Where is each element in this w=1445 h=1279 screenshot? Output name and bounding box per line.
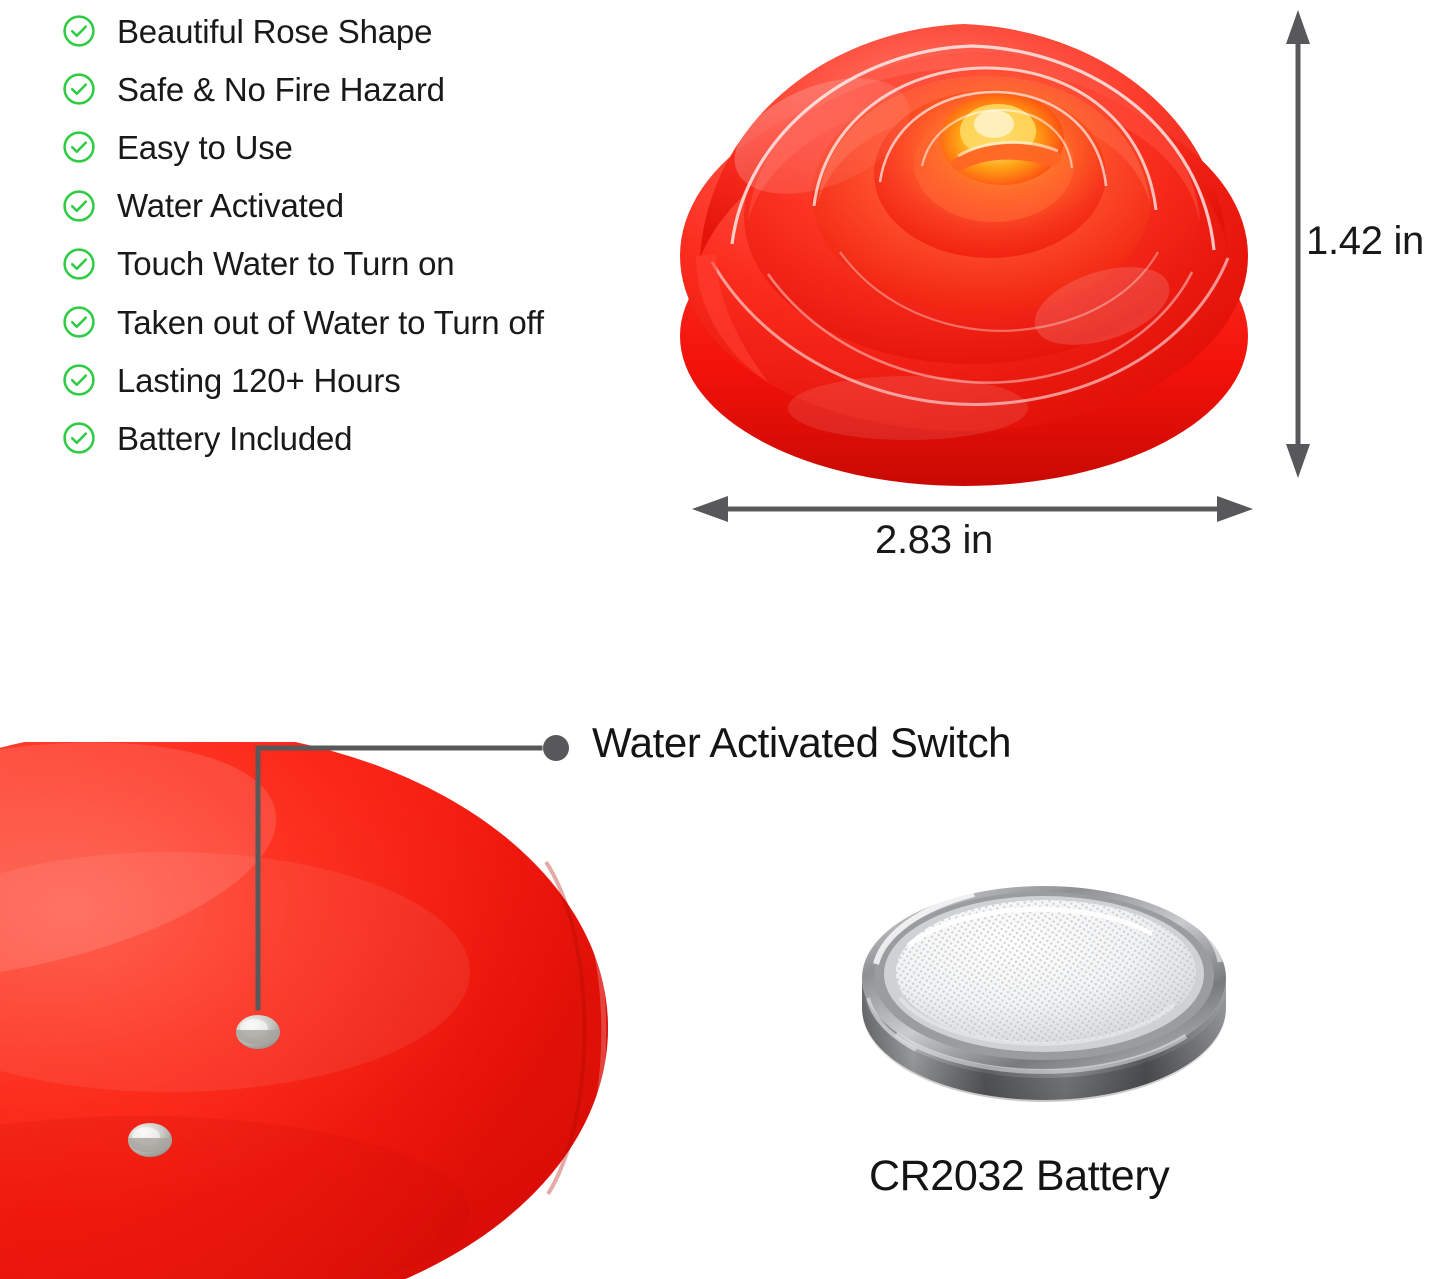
product-infographic: Beautiful Rose Shape Safe & No Fire Haza… [0,0,1445,1279]
check-circle-icon [62,247,96,281]
list-item: Battery Included [62,409,702,467]
list-item-label: Easy to Use [117,131,293,164]
list-item-label: Safe & No Fire Hazard [117,73,445,106]
list-item-label: Water Activated [117,189,344,222]
rose-candle-lit-photo [672,6,1256,490]
check-circle-icon [62,305,96,339]
list-item-label: Beautiful Rose Shape [117,15,432,48]
list-item: Beautiful Rose Shape [62,2,702,60]
height-dimension-label: 1.42 in [1306,219,1424,264]
check-circle-icon [62,421,96,455]
list-item-label: Taken out of Water to Turn off [117,306,544,339]
feature-list: Beautiful Rose Shape Safe & No Fire Haza… [62,2,702,468]
list-item: Touch Water to Turn on [62,235,702,293]
callout-label: Water Activated Switch [592,719,1011,767]
list-item: Easy to Use [62,118,702,176]
check-circle-icon [62,72,96,106]
list-item: Lasting 120+ Hours [62,351,702,409]
check-circle-icon [62,130,96,164]
callout-dot [543,735,569,761]
width-dimension-label: 2.83 in [875,518,993,563]
check-circle-icon [62,363,96,397]
list-item-label: Touch Water to Turn on [117,247,454,280]
list-item-label: Lasting 120+ Hours [117,364,401,397]
list-item: Water Activated [62,177,702,235]
list-item: Taken out of Water to Turn off [62,293,702,351]
callout-leader-line [230,730,580,1030]
list-item: Safe & No Fire Hazard [62,60,702,118]
battery-label: CR2032 Battery [869,1152,1169,1201]
list-item-label: Battery Included [117,422,352,455]
check-circle-icon [62,189,96,223]
cr2032-coin-cell-photo [856,858,1232,1126]
check-circle-icon [62,14,96,48]
